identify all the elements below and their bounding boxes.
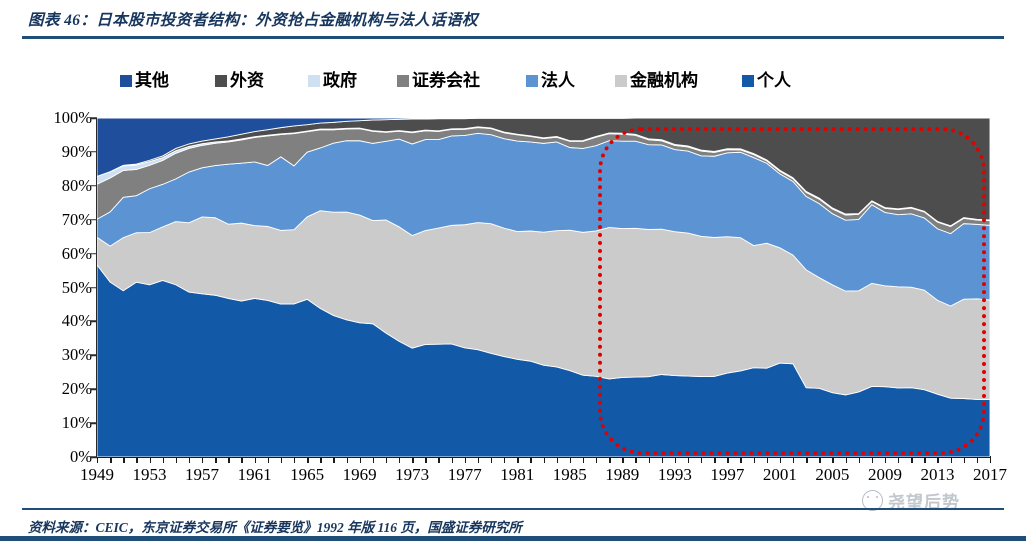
y-axis-tickmark [90,117,97,119]
x-axis-tick-label: 1989 [605,466,639,483]
x-axis-tickmark [977,457,978,463]
y-axis-tick-label: 20% [0,381,92,398]
x-axis-tickmark [228,457,229,463]
y-axis-tickmark [90,151,97,153]
y-axis-tick-label: 60% [0,245,92,262]
y-axis-tick-label: 70% [0,211,92,228]
legend-swatch-icon [308,75,320,87]
x-axis-tickmark [819,457,820,463]
x-axis-tickmark [189,457,190,463]
legend-swatch-icon [215,75,227,87]
x-axis-tickmark [255,457,256,463]
x-axis-tickmark [544,457,545,463]
x-axis-tick-label: 2001 [763,466,797,483]
x-axis-tick-label: 1981 [500,466,534,483]
x-axis-tickmark [399,457,400,463]
legend-item-label: 个人 [757,73,791,90]
y-axis-tick-label: 0% [0,449,92,466]
x-axis-tickmark [281,457,282,463]
footer-divider [22,508,1004,510]
x-axis-tick-label: 1965 [290,466,324,483]
x-axis-tick-label: 1961 [238,466,272,483]
y-axis-tick-label: 40% [0,313,92,330]
x-axis-tick-label: 2005 [815,466,849,483]
x-axis-tickmark [97,457,98,463]
legend-item-label: 其他 [135,73,169,90]
legend-item-6[interactable]: 个人 [742,73,791,90]
y-axis-tickmark [90,422,97,424]
x-axis-tick-label: 1985 [553,466,587,483]
legend-swatch-icon [120,75,132,87]
x-axis-tickmark [911,457,912,463]
x-axis-tickmark [215,457,216,463]
stacked-area-plot [97,118,990,457]
x-axis-tickmark [662,457,663,463]
x-axis-tickmark [885,457,886,463]
y-axis-tickmark [90,388,97,390]
x-axis-tickmark [268,457,269,463]
x-axis-tickmark [386,457,387,463]
x-axis-tickmark [202,457,203,463]
legend-swatch-icon [526,75,538,87]
x-axis-tickmark [425,457,426,463]
chart-area: 0%10%20%30%40%50%60%70%80%90%100% [0,105,1026,465]
x-axis-tick-label: 1969 [343,466,377,483]
legend-swatch-icon [742,75,754,87]
y-axis-tickmark [90,185,97,187]
y-axis-tickmark [90,321,97,323]
x-axis-tickmark [504,457,505,463]
x-axis-tickmark [990,457,991,463]
x-axis-tickmark [491,457,492,463]
x-axis-tickmark [859,457,860,463]
x-axis-tickmark [964,457,965,463]
y-axis-tick-label: 50% [0,279,92,296]
y-axis-tickmark [90,355,97,357]
legend-item-1[interactable]: 外资 [215,73,264,90]
figure-header: 图表 46：日本股市投资者结构：外资抢占金融机构与法人话语权 [0,0,1026,40]
x-axis-tickmark [150,457,151,463]
x-axis-tickmark [898,457,899,463]
y-axis-tick-label: 30% [0,347,92,364]
y-axis-tick-label: 80% [0,178,92,195]
header-divider [22,36,1004,39]
x-axis-tickmark [649,457,650,463]
y-axis-tickmark [90,219,97,221]
x-axis-tick-label: 2009 [868,466,902,483]
x-axis-tickmark [754,457,755,463]
x-axis-tick-label: 1949 [80,466,114,483]
x-axis-tickmark [163,457,164,463]
x-axis-tickmark [701,457,702,463]
x-axis-tickmark [557,457,558,463]
y-axis-tickmark [90,456,97,458]
x-axis-tickmark [951,457,952,463]
x-axis-tickmark [635,457,636,463]
x-axis-tickmark [583,457,584,463]
legend-item-5[interactable]: 金融机构 [615,73,698,90]
x-axis-tickmark [478,457,479,463]
x-axis-tickmark [924,457,925,463]
x-axis-tickmark [360,457,361,463]
x-axis-tickmark [136,457,137,463]
x-axis-tickmark [465,457,466,463]
x-axis-tickmark [110,457,111,463]
x-axis-tickmark [333,457,334,463]
x-axis-tickmark [570,457,571,463]
x-axis-tick-label: 1953 [133,466,167,483]
x-axis-tickmark [740,457,741,463]
source-note: 资料来源：CEIC，东京证券交易所《证券要览》1992 年版 116 页，国盛证… [28,516,522,536]
legend-swatch-icon [397,75,409,87]
legend-item-label: 金融机构 [630,73,698,90]
x-axis-tick-label: 1993 [658,466,692,483]
x-axis-tickmark [793,457,794,463]
legend-item-0[interactable]: 其他 [120,73,169,90]
x-axis-tickmark [727,457,728,463]
y-axis-tickmark [90,287,97,289]
x-axis-tick-label: 1973 [395,466,429,483]
x-axis-tick-label: 1997 [710,466,744,483]
x-axis-tickmark [320,457,321,463]
legend-item-label: 法人 [541,73,575,90]
chart-legend: 其他外资政府证券会社法人金融机构个人 [120,68,940,94]
legend-item-2[interactable]: 政府 [308,73,357,90]
x-axis-tick-label: 2013 [920,466,954,483]
x-axis-tickmark [294,457,295,463]
plot-svg [97,118,990,457]
y-axis-tickmark [90,253,97,255]
y-axis-tick-label: 10% [0,415,92,432]
x-axis-tickmark [373,457,374,463]
x-axis-tickmark [241,457,242,463]
x-axis-tickmark [347,457,348,463]
page-title: 图表 46：日本股市投资者结构：外资抢占金融机构与法人话语权 [28,8,478,30]
x-axis-tickmark [452,457,453,463]
x-axis-tickmark [438,457,439,463]
x-axis-tickmark [622,457,623,463]
x-axis-tickmark [675,457,676,463]
legend-item-4[interactable]: 法人 [526,73,575,90]
x-axis-tickmark [176,457,177,463]
x-axis-tick-label: 2017 [973,466,1007,483]
x-axis-tickmark [780,457,781,463]
x-axis-tickmark [517,457,518,463]
x-axis-tickmark [596,457,597,463]
x-axis-tickmark [832,457,833,463]
y-axis-tick-label: 100% [0,110,92,127]
y-axis: 0%10%20%30%40%50%60%70%80%90%100% [0,105,92,465]
x-axis-tickmark [688,457,689,463]
legend-item-label: 外资 [230,73,264,90]
x-axis-tickmark [937,457,938,463]
x-axis-tickmark [307,457,308,463]
legend-item-label: 证券会社 [412,73,480,90]
x-axis-tickmark [767,457,768,463]
x-axis-tickmark [846,457,847,463]
x-axis-tickmark [806,457,807,463]
x-axis-tickmark [609,457,610,463]
x-axis-tick-label: 1977 [448,466,482,483]
page-bottom-bar [0,536,1026,541]
legend-item-label: 政府 [323,73,357,90]
x-axis-tickmark [872,457,873,463]
x-axis-tickmark [123,457,124,463]
legend-item-3[interactable]: 证券会社 [397,73,480,90]
x-axis-tick-label: 1957 [185,466,219,483]
legend-swatch-icon [615,75,627,87]
y-axis-tick-label: 90% [0,144,92,161]
x-axis-tickmark [412,457,413,463]
x-axis-tickmark [530,457,531,463]
x-axis-tickmark [714,457,715,463]
